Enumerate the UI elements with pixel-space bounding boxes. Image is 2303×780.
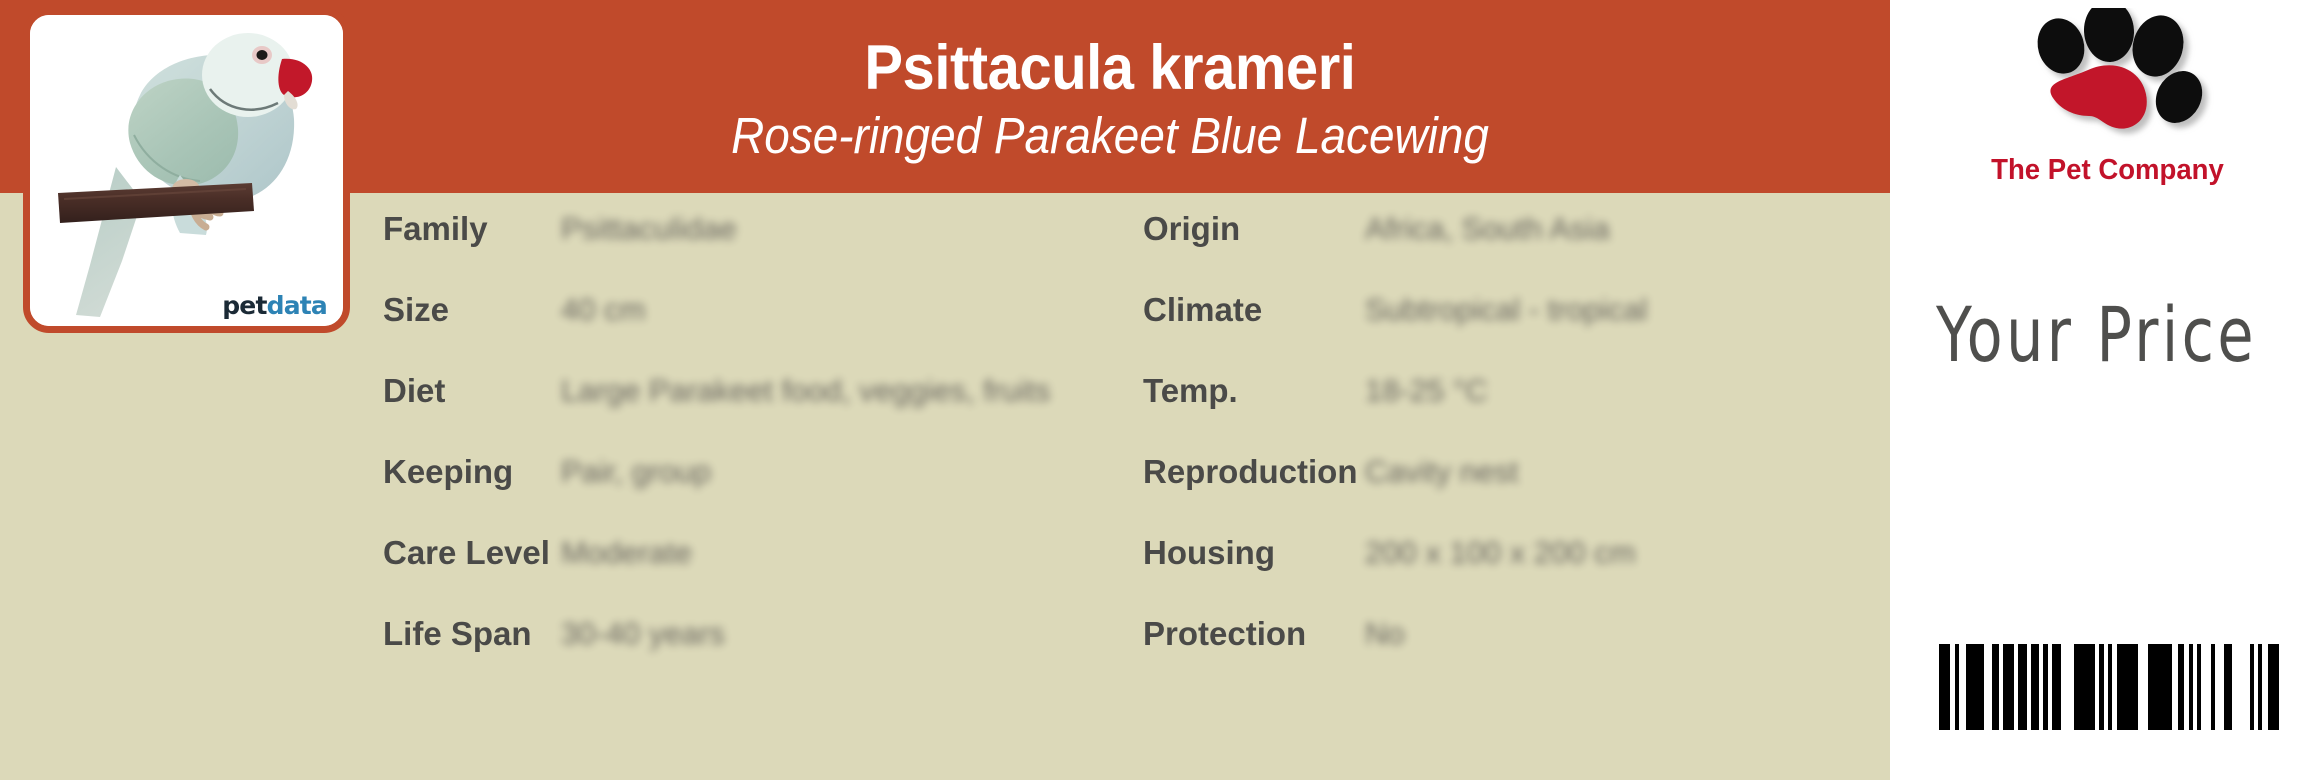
attribute-label-size: Size [383,291,561,329]
attribute-row: Climate Subtropical - tropical [1143,274,1883,355]
attribute-value-diet: Large Parakeet food, veggies, fruits [561,373,1050,409]
barcode-bar [2052,644,2061,730]
attribute-label-protection: Protection [1143,615,1365,653]
attribute-row: Family Psittaculidae [383,193,1143,274]
attribute-label-family: Family [383,210,561,248]
attribute-value-protection: No [1365,616,1405,652]
barcode [1939,644,2279,730]
barcode-bar [1959,644,1966,730]
attribute-label-keeping: Keeping [383,453,561,491]
attribute-value-temp: 18-25 °C [1365,373,1488,409]
attribute-label-life-span: Life Span [383,615,561,653]
attribute-value-size: 40 cm [561,292,645,328]
attribute-value-climate: Subtropical - tropical [1365,292,1648,328]
barcode-bar [1966,644,1984,730]
attribute-value-origin: Africa, South Asia [1365,211,1610,247]
brand-name: The Pet Company [1922,154,2293,187]
attribute-row: Temp. 18-25 °C [1143,355,1883,436]
attribute-label-diet: Diet [383,372,561,410]
barcode-bar [2232,644,2250,730]
attribute-row: Protection No [1143,598,1883,679]
barcode-bar [2031,644,2039,730]
barcode-bar [2268,644,2279,730]
attribute-label-care-level: Care Level [383,534,561,572]
attribute-row: Reproduction Cavity nest [1143,436,1883,517]
barcode-bar [2018,644,2027,730]
paw-print-icon [1983,8,2233,158]
barcode-bar [1992,644,1999,730]
attribute-row: Housing 200 x 100 x 200 cm [1143,517,1883,598]
barcode-bar [2061,644,2074,730]
attribute-value-reproduction: Cavity nest [1365,454,1518,490]
pet-info-label-card: Psittacula krameri Rose-ringed Parakeet … [0,0,2303,780]
attribute-value-care-level: Moderate [561,535,692,571]
barcode-bar [2074,644,2095,730]
attribute-label-temp: Temp. [1143,372,1365,410]
attribute-row: Origin Africa, South Asia [1143,193,1883,274]
attribute-label-housing: Housing [1143,534,1365,572]
attribute-row: Keeping Pair, group [383,436,1143,517]
barcode-bar [2138,644,2148,730]
barcode-bar [2148,644,2172,730]
attribute-value-life-span: 30-40 years [561,616,725,652]
attribute-row: Size 40 cm [383,274,1143,355]
attribute-label-climate: Climate [1143,291,1365,329]
title-block: Psittacula krameri Rose-ringed Parakeet … [330,6,1890,193]
brand-logo: The Pet Company [1912,6,2303,196]
barcode-bar [2201,644,2211,730]
species-common-name: Rose-ringed Parakeet Blue Lacewing [731,108,1489,164]
species-scientific-name: Psittacula krameri [864,35,1355,101]
barcode-bar [2224,644,2232,730]
barcode-bar [1984,644,1992,730]
attribute-value-family: Psittaculidae [561,211,737,247]
attribute-row: Diet Large Parakeet food, veggies, fruit… [383,355,1143,436]
species-info-panel: Psittacula krameri Rose-ringed Parakeet … [0,0,1890,780]
attribute-row: Life Span 30-40 years [383,598,1143,679]
barcode-bar [2117,644,2138,730]
your-price-label: Your Price [1936,290,2257,379]
attribute-label-reproduction: Reproduction [1143,453,1365,491]
attribute-label-origin: Origin [1143,210,1365,248]
attribute-column-left: Family Psittaculidae Size 40 cm Diet Lar… [383,193,1143,679]
barcode-bar [2003,644,2014,730]
attribute-value-keeping: Pair, group [561,454,711,490]
attribute-value-housing: 200 x 100 x 200 cm [1365,535,1636,571]
attribute-column-right: Origin Africa, South Asia Climate Subtro… [1143,193,1883,679]
barcode-bar [1939,644,1950,730]
attribute-grid: Family Psittaculidae Size 40 cm Diet Lar… [0,193,1890,780]
barcode-bar [2215,644,2224,730]
price-panel: The Pet Company Your Price [1912,0,2303,780]
attribute-row: Care Level Moderate [383,517,1143,598]
